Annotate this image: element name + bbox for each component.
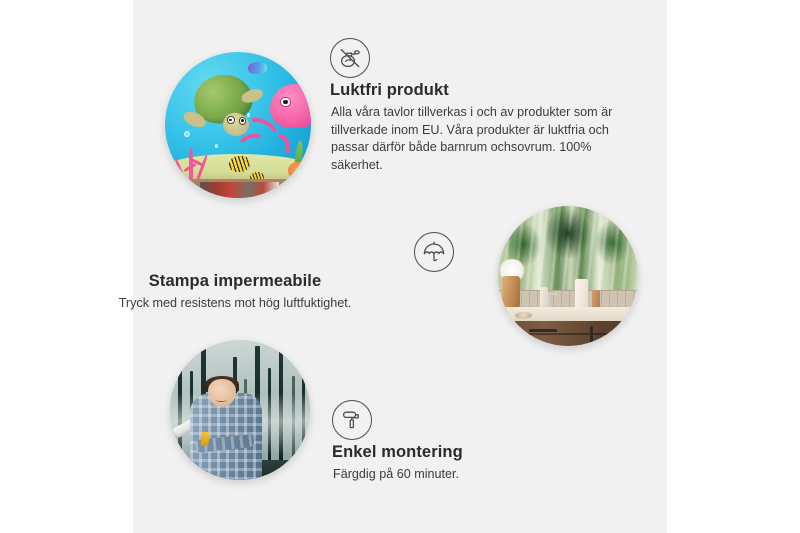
paint-roller-icon: [332, 400, 372, 440]
no-spray-bottle-icon: [330, 38, 370, 78]
underwater-cartoon-sea-animals-photo: [165, 52, 311, 198]
umbrella-icon: [414, 232, 454, 272]
promo-infographic: Luktfri produkt Alla våra tavlor tillver…: [0, 0, 800, 533]
feature-body: Färgdig på 60 minuter.: [333, 466, 613, 484]
feature-title: Enkel montering: [332, 443, 463, 462]
feature-body: Alla våra tavlor tillverkas i och av pro…: [331, 104, 617, 174]
yellow-fish: [229, 156, 249, 172]
feature-title: Luktfri produkt: [330, 81, 449, 100]
bathroom-botanical-wallpaper-photo: [498, 206, 638, 346]
woman-with-paint-roller-forest-photo: [170, 340, 310, 480]
feature-title: Stampa impermeabile: [0, 272, 470, 291]
octopus: [270, 84, 311, 128]
blue-fish: [248, 62, 267, 74]
feature-body: Tryck med resistens mot hög luftfuktighe…: [0, 295, 470, 313]
